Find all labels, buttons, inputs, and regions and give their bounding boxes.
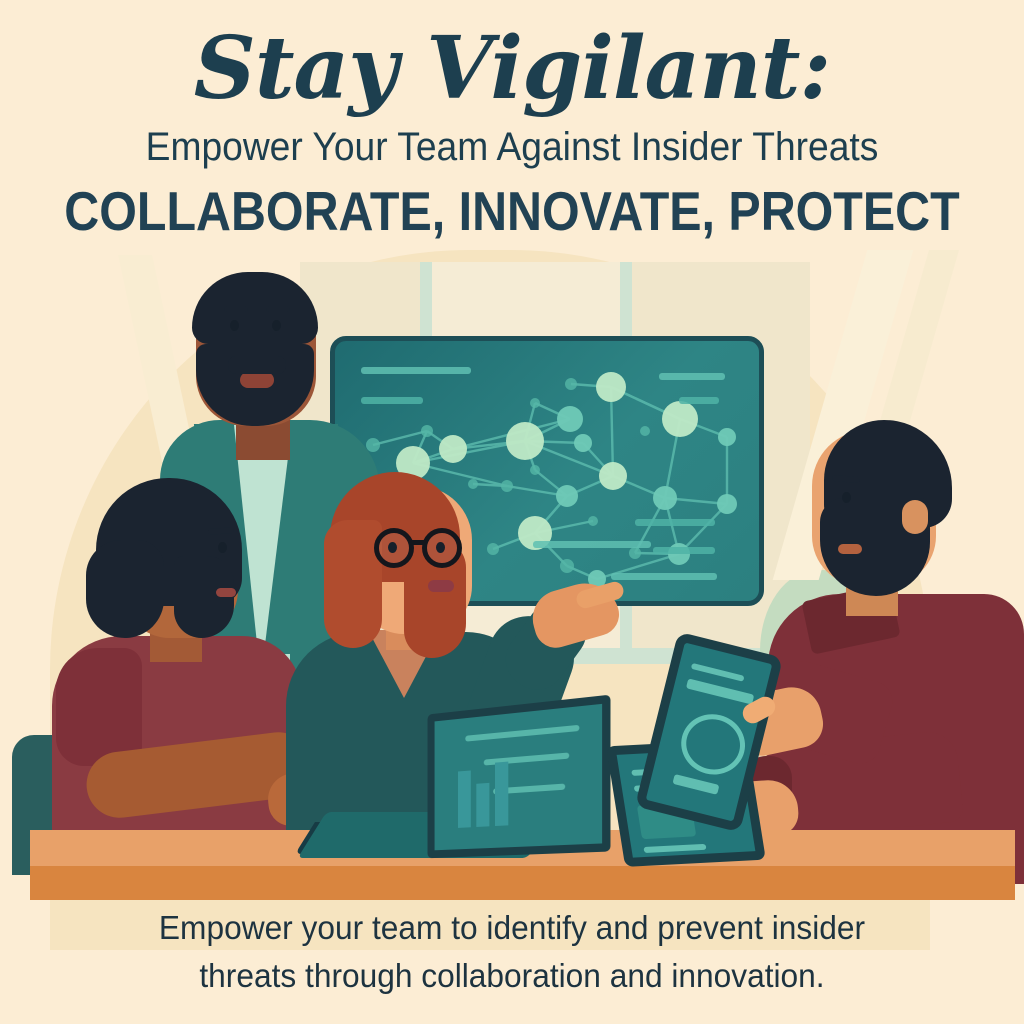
standing-man-brow-left xyxy=(224,306,248,312)
laptop-screen[interactable] xyxy=(427,695,610,859)
network-node-19 xyxy=(530,465,540,475)
monitor-text-bar xyxy=(653,547,715,554)
network-node-17 xyxy=(501,480,513,492)
caption-line-2: threats through collaboration and innova… xyxy=(20,952,1003,1000)
standing-man-brow-right xyxy=(266,306,290,312)
monitor-text-bar xyxy=(361,397,423,404)
right-man-ear xyxy=(902,500,928,534)
right-man-eye xyxy=(842,492,851,503)
network-node-1 xyxy=(557,406,583,432)
phone-screen-line xyxy=(686,678,754,704)
network-node-18 xyxy=(468,479,478,489)
phone-screen-line xyxy=(672,774,719,795)
standing-man-mouth xyxy=(240,372,274,388)
network-node-9 xyxy=(565,378,577,390)
page-tagline: COLLABORATE, INNOVATE, PROTECT xyxy=(61,184,962,239)
network-node-20 xyxy=(588,516,598,526)
standing-man-upper-lip xyxy=(228,356,286,374)
network-node-16 xyxy=(556,485,578,507)
tablet-screen-line xyxy=(643,844,706,853)
woman-left-lips xyxy=(216,588,236,597)
network-node-13 xyxy=(599,462,627,490)
monitor-text-bar xyxy=(635,519,715,526)
monitor-text-bar xyxy=(659,373,725,380)
glasses-bridge xyxy=(412,540,426,545)
laptop-bar-1 xyxy=(458,770,471,827)
monitor-text-bar xyxy=(361,367,471,374)
network-node-7 xyxy=(574,434,592,452)
network-node-6 xyxy=(506,422,544,460)
woman-left-hair-back xyxy=(174,556,234,638)
network-node-24 xyxy=(629,547,641,559)
network-node-5 xyxy=(530,398,540,408)
network-node-12 xyxy=(640,426,650,436)
network-node-2 xyxy=(421,425,433,437)
network-node-23 xyxy=(560,559,574,573)
network-node-22 xyxy=(487,543,499,555)
network-node-11 xyxy=(718,428,736,446)
network-node-14 xyxy=(653,486,677,510)
presenter-lips xyxy=(428,580,454,592)
woman-left-hair-bun xyxy=(86,540,164,638)
standing-man-eye-left xyxy=(230,320,239,331)
network-node-15 xyxy=(717,494,737,514)
laptop-bar-2 xyxy=(476,783,489,827)
desk-edge xyxy=(30,866,1015,900)
presenter-eye xyxy=(388,542,397,553)
presenter-hair-side xyxy=(324,520,382,648)
monitor-text-bar xyxy=(533,541,651,548)
presenter-eye-2 xyxy=(436,542,445,553)
network-node-0 xyxy=(439,435,467,463)
headline-block: Stay Vigilant: Empower Your Team Against… xyxy=(0,0,1024,239)
woman-left-eye xyxy=(218,542,227,553)
page-subtitle: Empower Your Team Against Insider Threat… xyxy=(36,126,988,168)
standing-man-eye-right xyxy=(272,320,281,331)
monitor-text-bar xyxy=(611,573,717,580)
caption-line-1: Empower your team to identify and preven… xyxy=(20,904,1003,952)
right-man-mouth xyxy=(838,544,862,554)
network-node-3 xyxy=(366,438,380,452)
page-title-script: Stay Vigilant: xyxy=(0,26,1024,112)
phone-screen-line xyxy=(691,663,745,682)
network-node-8 xyxy=(596,372,626,402)
phone-gauge-ring xyxy=(675,708,752,782)
monitor-text-bar xyxy=(679,397,719,404)
poster-root: Stay Vigilant: Empower Your Team Against… xyxy=(0,0,1024,1024)
laptop-screen-line xyxy=(465,725,579,742)
footer-caption: Empower your team to identify and preven… xyxy=(20,904,1003,1000)
laptop-bar-3 xyxy=(495,762,508,826)
network-node-10 xyxy=(662,401,698,437)
woman-left-sleeve xyxy=(56,648,142,766)
